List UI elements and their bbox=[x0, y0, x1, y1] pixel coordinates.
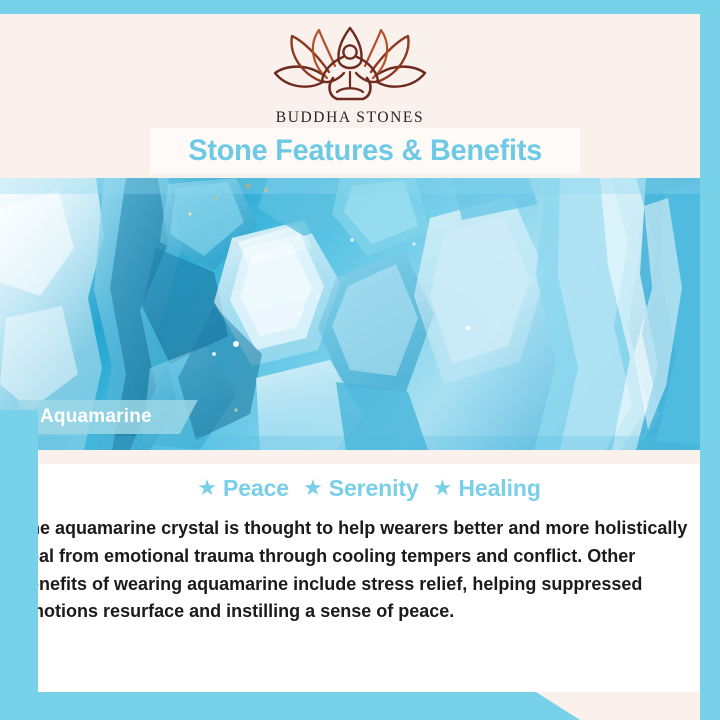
stone-name-label: Aquamarine bbox=[40, 406, 152, 428]
bottom-right-cream-block bbox=[560, 692, 720, 720]
benefits-row: ★ Peace ★ Serenity ★ Healing bbox=[38, 466, 700, 510]
top-accent-rail bbox=[0, 0, 720, 14]
brand-name: BUDDHA STONES bbox=[276, 109, 424, 127]
benefit-label: Healing bbox=[458, 475, 540, 502]
benefit-item-healing: ★ Healing bbox=[433, 475, 541, 502]
content-panel: ★ Peace ★ Serenity ★ Healing The aquamar… bbox=[38, 464, 700, 692]
stone-name-ribbon: Aquamarine bbox=[18, 400, 198, 434]
benefit-item-peace: ★ Peace bbox=[197, 475, 289, 502]
lotus-meditation-logo-icon bbox=[265, 26, 435, 106]
page-title: Stone Features & Benefits bbox=[188, 134, 542, 168]
star-icon: ★ bbox=[303, 477, 323, 499]
star-icon: ★ bbox=[433, 477, 453, 499]
stone-features-poster: BUDDHA STONES Stone Features & Benefits bbox=[0, 0, 720, 720]
left-accent-rail bbox=[0, 410, 38, 720]
benefit-item-serenity: ★ Serenity bbox=[303, 475, 419, 502]
right-accent-rail bbox=[700, 0, 720, 720]
cream-divider-strip bbox=[0, 450, 700, 464]
benefit-label: Peace bbox=[223, 475, 289, 502]
bottom-accent-band bbox=[0, 692, 580, 720]
benefit-label: Serenity bbox=[329, 475, 419, 502]
aquamarine-crystal-photo: Aquamarine bbox=[0, 178, 700, 450]
description-paragraph: The aquamarine crystal is thought to hel… bbox=[18, 514, 688, 625]
title-banner: Stone Features & Benefits bbox=[150, 128, 580, 174]
star-icon: ★ bbox=[197, 477, 217, 499]
